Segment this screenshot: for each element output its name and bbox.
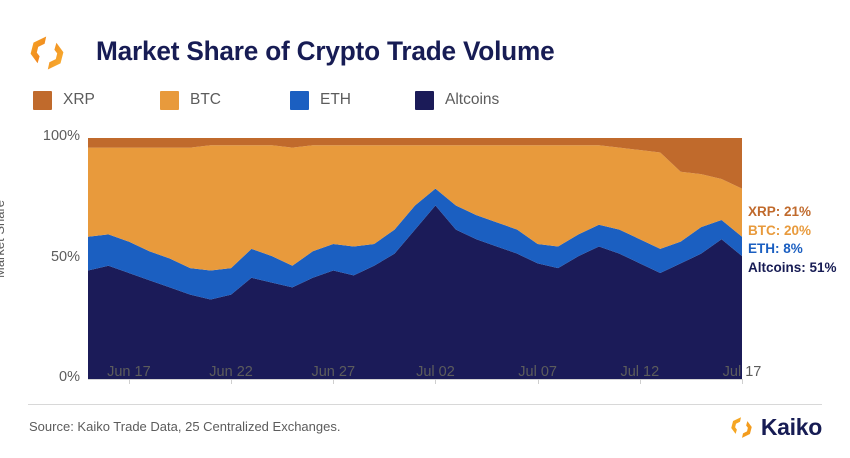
- annotation-value-xrp: 21%: [784, 204, 811, 219]
- annotation-row-xrp: XRP: 21%: [748, 203, 848, 222]
- page-title: Market Share of Crypto Trade Volume: [96, 36, 554, 67]
- stacked-area-plot: [88, 138, 742, 379]
- legend-swatch-btc: [160, 91, 179, 110]
- y-axis-label: Market Share: [0, 200, 7, 278]
- y-axis-tick-label: 50%: [20, 249, 80, 265]
- x-axis-tick-mark: [333, 379, 334, 384]
- x-axis-tick-mark: [640, 379, 641, 384]
- annotation-row-btc: BTC: 20%: [748, 222, 848, 241]
- annotation-value-btc: 20%: [784, 223, 811, 238]
- x-axis-tick-label: Jun 17: [107, 364, 151, 380]
- annotation-name-xrp: XRP:: [748, 204, 780, 219]
- brand-logo: Kaiko: [729, 412, 822, 442]
- chart-legend: XRP BTC ETH Altcoins: [0, 88, 850, 116]
- x-axis-tick-label: Jul 12: [620, 364, 659, 380]
- x-axis-tick-label: Jul 07: [518, 364, 557, 380]
- x-axis-tick-mark: [129, 379, 130, 384]
- annotation-value-eth: 8%: [783, 241, 803, 256]
- chart-area: Market Share 0%50%100% Jun 17Jun 22Jun 2…: [0, 128, 850, 393]
- annotation-row-altcoins: Altcoins: 51%: [748, 259, 848, 278]
- legend-label-eth: ETH: [320, 91, 351, 109]
- x-axis-tick-mark: [538, 379, 539, 384]
- legend-item-altcoins[interactable]: Altcoins: [415, 88, 499, 112]
- legend-item-btc[interactable]: BTC: [160, 88, 221, 112]
- legend-label-altcoins: Altcoins: [445, 91, 499, 109]
- x-axis-tick-mark: [231, 379, 232, 384]
- x-axis-tick-label: Jun 22: [209, 364, 253, 380]
- legend-item-eth[interactable]: ETH: [290, 88, 351, 112]
- x-axis-tick-label: Jul 17: [723, 364, 762, 380]
- kaiko-hexagon-icon: [27, 33, 67, 73]
- annotation-value-altcoins: 51%: [810, 260, 837, 275]
- legend-label-btc: BTC: [190, 91, 221, 109]
- annotation-name-btc: BTC:: [748, 223, 780, 238]
- annotation-row-eth: ETH: 8%: [748, 240, 848, 259]
- y-axis-ticks: 0%50%100%: [14, 128, 80, 383]
- legend-item-xrp[interactable]: XRP: [33, 88, 95, 112]
- legend-label-xrp: XRP: [63, 91, 95, 109]
- series-value-annotations: XRP: 21% BTC: 20% ETH: 8% Altcoins: 51%: [748, 203, 848, 277]
- x-axis-tick-mark: [742, 379, 743, 384]
- annotation-name-eth: ETH:: [748, 241, 780, 256]
- source-note: Source: Kaiko Trade Data, 25 Centralized…: [29, 419, 340, 434]
- chart-page: Market Share of Crypto Trade Volume XRP …: [0, 0, 850, 458]
- legend-swatch-xrp: [33, 91, 52, 110]
- annotation-name-altcoins: Altcoins:: [748, 260, 806, 275]
- brand-name: Kaiko: [761, 414, 822, 441]
- y-axis-tick-label: 100%: [20, 128, 80, 144]
- header: Market Share of Crypto Trade Volume: [0, 0, 850, 82]
- x-axis-tick-label: Jun 27: [311, 364, 355, 380]
- legend-swatch-eth: [290, 91, 309, 110]
- x-axis-tick-mark: [435, 379, 436, 384]
- footer-divider: [28, 404, 822, 405]
- legend-swatch-altcoins: [415, 91, 434, 110]
- y-axis-tick-label: 0%: [20, 369, 80, 385]
- x-axis-tick-label: Jul 02: [416, 364, 455, 380]
- kaiko-hexagon-icon: [729, 415, 754, 440]
